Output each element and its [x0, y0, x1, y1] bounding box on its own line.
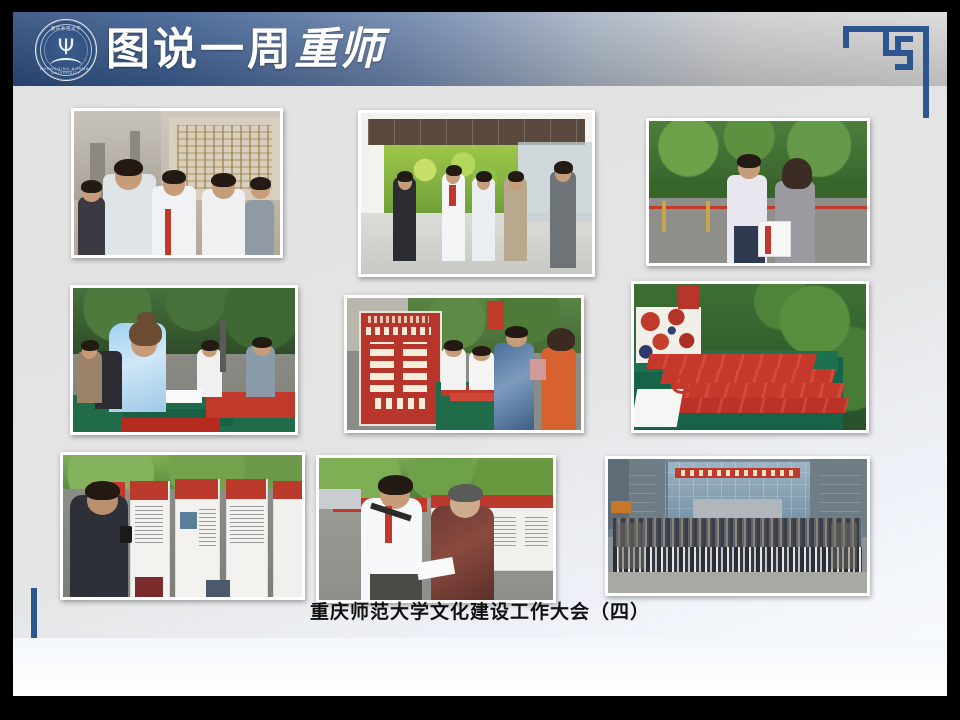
university-logo-icon: 重庆师范大学 Ψ CHONGQING NORMAL UNIVERSITY: [35, 19, 97, 81]
corner-ornament-top-right-icon: [843, 26, 929, 118]
photo-thumbnail[interactable]: [605, 456, 870, 596]
slide-caption: 重庆师范大学文化建设工作大会（四）: [13, 597, 947, 624]
logo-emblem-glyph: Ψ: [36, 37, 96, 58]
title-main-text: 图说一周: [106, 24, 294, 75]
photo-thumbnail[interactable]: [358, 110, 595, 277]
photo-thumbnail[interactable]: [344, 295, 584, 433]
page-title: 图说一周重师: [106, 20, 384, 80]
logo-chinese-text: 重庆师范大学: [36, 26, 96, 32]
presentation-slide: 重庆师范大学 Ψ CHONGQING NORMAL UNIVERSITY 图说一…: [13, 12, 947, 696]
photo-thumbnail[interactable]: [316, 455, 556, 603]
logo-book-shape: [50, 58, 82, 67]
photo-thumbnail[interactable]: [631, 281, 869, 433]
logo-english-text: CHONGQING NORMAL UNIVERSITY: [36, 67, 96, 75]
photo-thumbnail[interactable]: [60, 452, 305, 600]
title-cursive-text: 重师: [294, 24, 384, 75]
photo-thumbnail[interactable]: [70, 285, 298, 435]
photo-thumbnail[interactable]: [71, 108, 283, 258]
slide-bottom-band: [13, 638, 947, 696]
photo-thumbnail[interactable]: [646, 118, 870, 266]
